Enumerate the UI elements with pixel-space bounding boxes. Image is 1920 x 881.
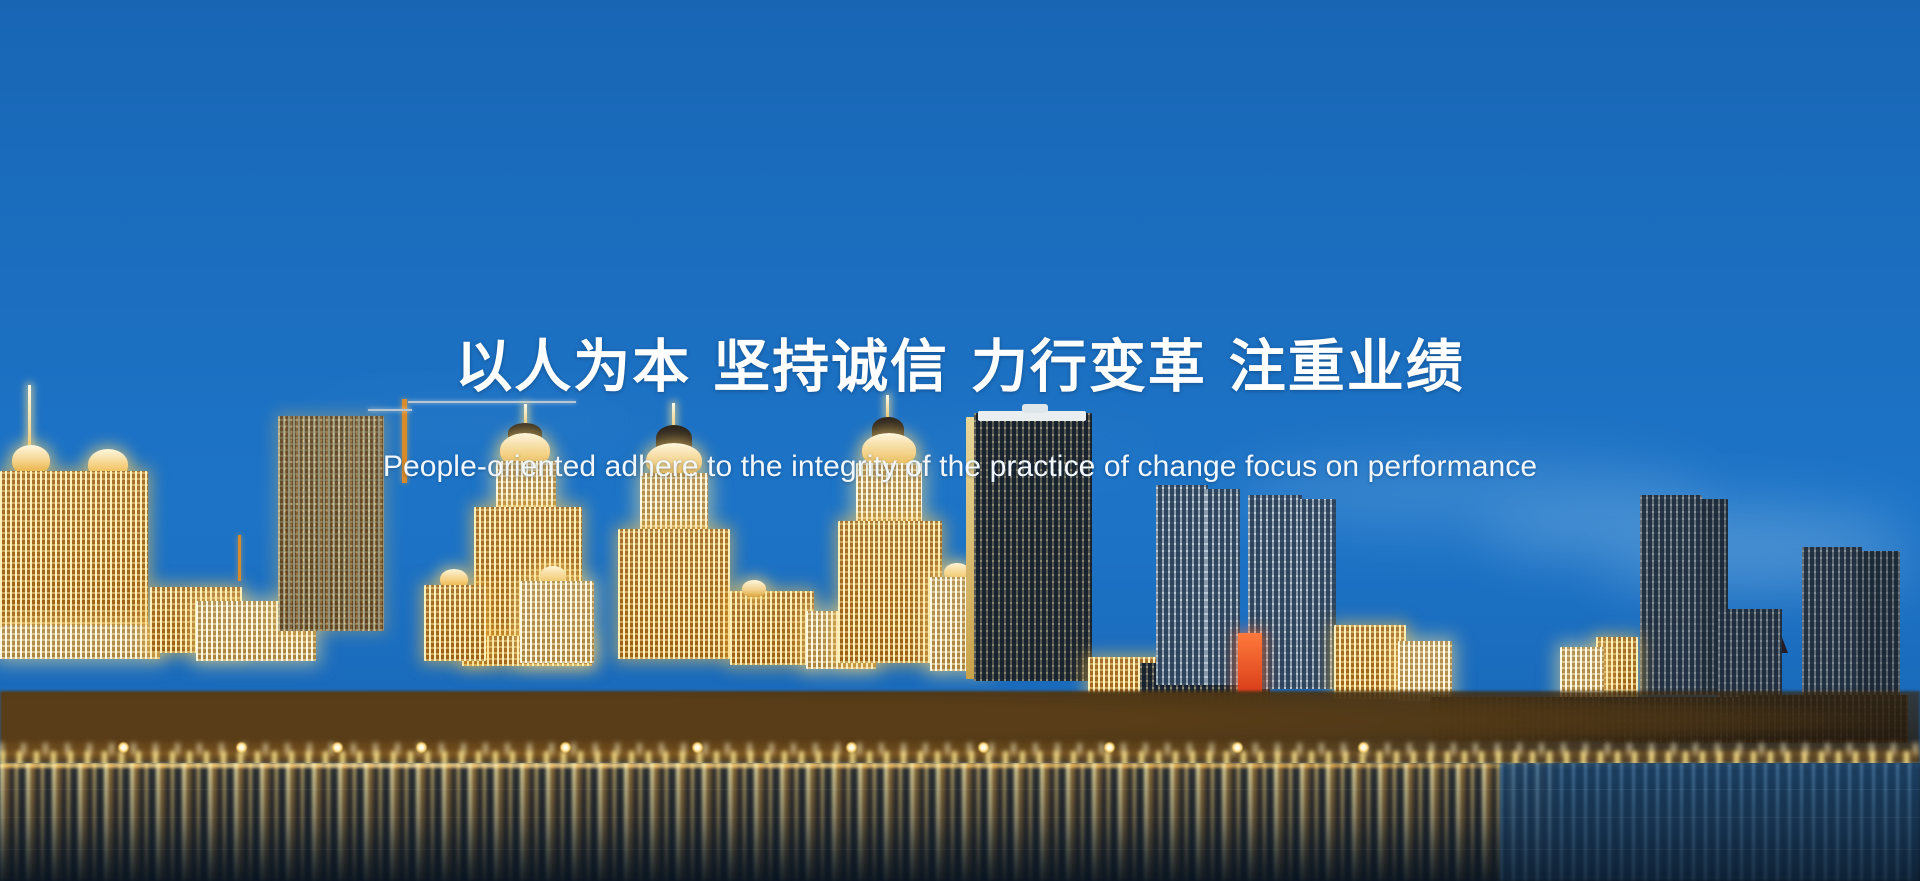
tower-dome bbox=[646, 443, 702, 477]
street-lamp bbox=[978, 742, 989, 753]
building bbox=[1334, 625, 1406, 699]
neon-sign-building bbox=[1238, 633, 1262, 695]
street-lamp bbox=[1232, 742, 1243, 753]
street-lamp bbox=[692, 742, 703, 753]
building bbox=[730, 591, 814, 665]
street-lamp bbox=[416, 742, 427, 753]
tower-dome bbox=[862, 433, 916, 467]
street-lamp bbox=[560, 742, 571, 753]
building-tower bbox=[1300, 499, 1336, 689]
building bbox=[520, 581, 594, 663]
tower-upper bbox=[640, 473, 708, 533]
crane-jib bbox=[408, 401, 576, 403]
tower-body bbox=[618, 529, 730, 659]
hero-banner: 以人为本 坚持诚信 力行变革 注重业绩 People-oriented adhe… bbox=[0, 0, 1920, 881]
river-water bbox=[0, 763, 1920, 881]
tower-upper bbox=[856, 463, 922, 525]
building-tower-dark bbox=[1640, 495, 1702, 695]
street-lamp bbox=[332, 742, 343, 753]
building-lit-overlay bbox=[278, 416, 384, 631]
tower-body bbox=[838, 521, 942, 663]
building bbox=[424, 585, 486, 661]
tower-spire bbox=[886, 395, 889, 419]
crane-mast bbox=[402, 399, 407, 483]
building-dome bbox=[742, 580, 766, 597]
building-tower-dark bbox=[1802, 547, 1862, 699]
water-depth-shading bbox=[0, 763, 1920, 881]
building bbox=[0, 471, 148, 636]
building-tower-dark bbox=[1856, 551, 1900, 699]
street-lamp bbox=[1358, 742, 1369, 753]
building-dark-highrise bbox=[974, 413, 1092, 681]
street-lamp bbox=[236, 742, 247, 753]
street-lamp bbox=[118, 742, 129, 753]
building-tower bbox=[1206, 489, 1240, 685]
rooftop-box bbox=[1022, 404, 1048, 413]
building-tower bbox=[1156, 485, 1208, 685]
tower-upper bbox=[496, 461, 556, 513]
crane-counter-jib bbox=[368, 409, 412, 411]
street-lamp bbox=[846, 742, 857, 753]
building-podium bbox=[0, 625, 160, 659]
antenna-spire bbox=[28, 385, 31, 451]
street-lamp bbox=[1104, 742, 1115, 753]
crane-mast-small bbox=[238, 535, 241, 581]
